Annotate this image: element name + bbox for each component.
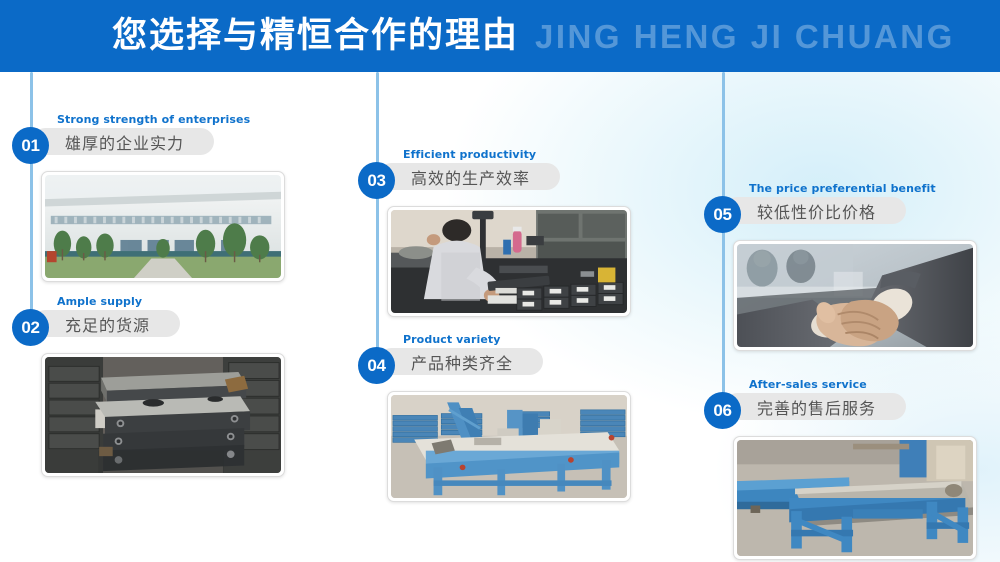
feature-label-english-05: The price preferential benefit [749,182,936,195]
blue-platform-table-photo [737,440,973,556]
feature-head-03: 高效的生产效率 03 Efficient productivity [358,148,658,200]
feature-number-badge-04: 04 [358,347,395,384]
feature-label-english-02: Ample supply [57,295,142,308]
feature-item-04: 产品种类齐全 04 Product variety [358,333,658,385]
feature-label-chinese-01: 雄厚的企业实力 [65,130,184,154]
feature-number-badge-02: 02 [12,309,49,346]
feature-label-chinese-02: 充足的货源 [65,312,150,336]
feature-label-chinese-03: 高效的生产效率 [411,165,530,189]
feature-label-chinese-04: 产品种类齐全 [411,350,513,374]
banner-title-chinese: 您选择与精恒合作的理由 [112,19,519,54]
feature-label-english-06: After-sales service [749,378,867,391]
feature-number-badge-03: 03 [358,162,395,199]
feature-number-badge-05: 05 [704,196,741,233]
feature-item-03: 高效的生产效率 03 Efficient productivity [358,148,658,200]
feature-pill-02: 充足的货源 [32,310,180,337]
connector-rail-column-1 [30,72,33,328]
poster-stage: 您选择与精恒合作的理由 JING HENG JI CHUANG 雄厚的企业实力 … [0,0,1000,562]
feature-head-02: 充足的货源 02 Ample supply [12,295,312,347]
blue-platform-table-photo-frame [733,436,977,560]
feature-item-02: 充足的货源 02 Ample supply [12,295,312,347]
connector-rail-column-2 [376,72,379,364]
feature-label-english-01: Strong strength of enterprises [57,113,250,126]
blue-machine-tables-photo [391,395,627,498]
feature-pill-04: 产品种类齐全 [378,348,543,375]
feature-pill-06: 完善的售后服务 [724,393,906,420]
feature-item-01: 雄厚的企业实力 01 Strong strength of enterprise… [12,113,312,165]
factory-building-photo-frame [41,171,285,282]
header-banner: 您选择与精恒合作的理由 JING HENG JI CHUANG [0,0,1000,72]
stacked-machine-parts-photo-frame [41,353,285,477]
factory-building-photo [45,175,281,278]
stacked-machine-parts-photo [45,357,281,473]
feature-number-badge-01: 01 [12,127,49,164]
feature-number-badge-06: 06 [704,392,741,429]
blue-machine-tables-photo-frame [387,391,631,502]
feature-head-05: 较低性价比价格 05 The price preferential benefi… [704,182,1000,234]
handshake-photo [737,244,973,347]
worker-at-workbench-photo [391,210,627,313]
feature-pill-03: 高效的生产效率 [378,163,560,190]
feature-pill-01: 雄厚的企业实力 [32,128,214,155]
feature-head-06: 完善的售后服务 06 After-sales service [704,378,1000,430]
feature-label-chinese-06: 完善的售后服务 [757,395,876,419]
worker-at-workbench-photo-frame [387,206,631,317]
feature-head-01: 雄厚的企业实力 01 Strong strength of enterprise… [12,113,312,165]
feature-head-04: 产品种类齐全 04 Product variety [358,333,658,385]
feature-label-english-03: Efficient productivity [403,148,536,161]
banner-title-pinyin: JING HENG JI CHUANG [535,20,955,53]
feature-item-05: 较低性价比价格 05 The price preferential benefi… [704,182,1000,234]
feature-pill-05: 较低性价比价格 [724,197,906,224]
feature-item-06: 完善的售后服务 06 After-sales service [704,378,1000,430]
feature-label-chinese-05: 较低性价比价格 [757,199,876,223]
feature-label-english-04: Product variety [403,333,501,346]
handshake-photo-frame [733,240,977,351]
